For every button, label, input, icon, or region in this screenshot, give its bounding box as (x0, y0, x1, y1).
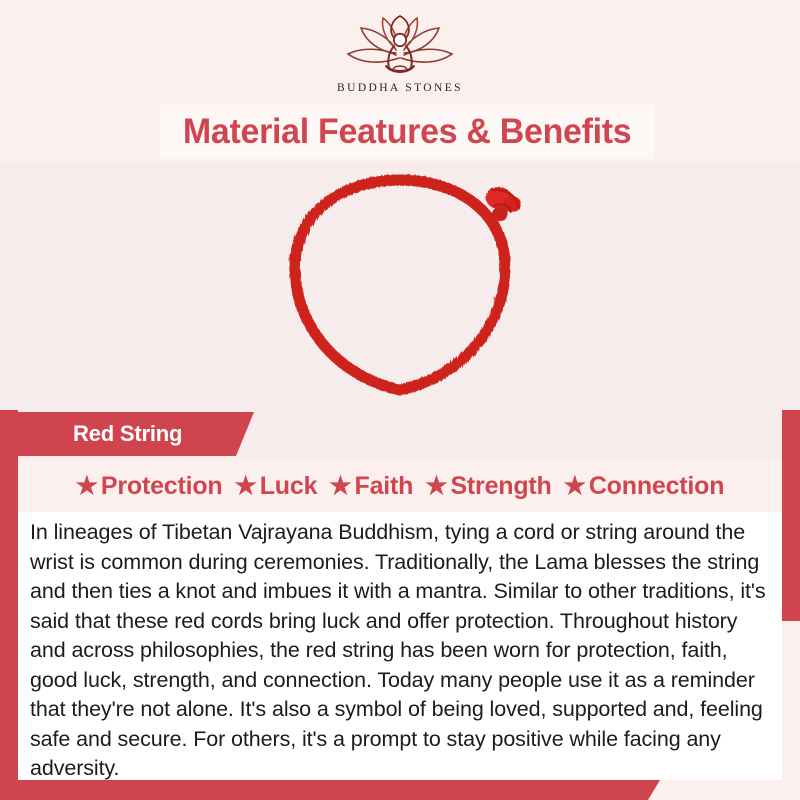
star-icon: ★ (329, 474, 351, 499)
benefit-label: Protection (101, 472, 223, 501)
title-banner: Material Features & Benefits (160, 104, 655, 159)
benefit-label: Faith (355, 472, 414, 501)
product-image-panel (0, 162, 800, 410)
star-icon: ★ (235, 474, 257, 499)
benefit-label: Strength (450, 472, 551, 501)
material-name-banner: Red String (18, 412, 254, 456)
material-name: Red String (18, 421, 182, 447)
star-icon: ★ (425, 474, 447, 499)
lotus-meditation-icon (336, 14, 464, 80)
benefit-faith: ★ Faith (329, 472, 413, 501)
benefit-protection: ★ Protection (76, 472, 223, 501)
star-icon: ★ (564, 474, 586, 499)
star-icon: ★ (76, 474, 98, 499)
header: BUDDHA STONES Material Features & Benefi… (0, 0, 800, 162)
brand-name: BUDDHA STONES (337, 82, 463, 94)
benefits-row: ★ Protection ★ Luck ★ Faith ★ Strength ★… (18, 460, 782, 512)
benefit-luck: ★ Luck (235, 472, 318, 501)
page-title: Material Features & Benefits (183, 112, 631, 152)
description-text: In lineages of Tibetan Vajrayana Buddhis… (30, 518, 770, 784)
benefit-label: Connection (589, 472, 725, 501)
red-string-bracelet-image (250, 162, 550, 410)
benefit-label: Luck (260, 472, 318, 501)
benefit-strength: ★ Strength (425, 472, 551, 501)
description-panel: In lineages of Tibetan Vajrayana Buddhis… (18, 512, 782, 780)
brand-logo: BUDDHA STONES (0, 14, 800, 94)
benefit-connection: ★ Connection (564, 472, 725, 501)
